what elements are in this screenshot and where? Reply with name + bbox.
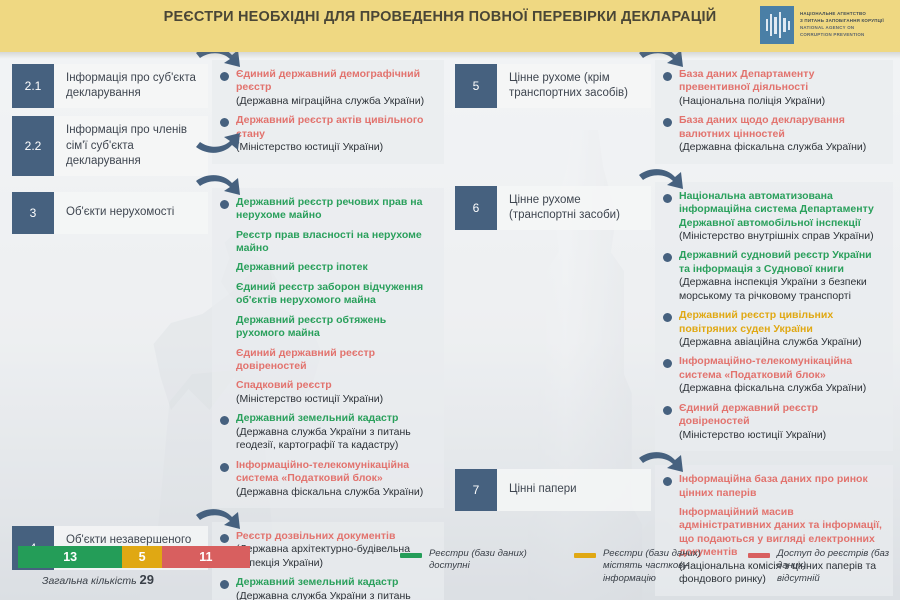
- registry-body: Державний реєстр іпотек: [236, 261, 434, 274]
- group-layout: 3Об'єкти нерухомостіДержавний реєстр реч…: [12, 188, 444, 508]
- summary-bar-segment: 13: [18, 546, 122, 568]
- registry-name: Єдиний державний реєстр довіреностей: [236, 347, 434, 374]
- bullet-icon: [220, 200, 229, 209]
- registry-authority: (Державна міграційна служба України): [236, 95, 434, 108]
- registry-name: Інформаційна база даних про ринок цінних…: [679, 473, 883, 500]
- registry-name: Єдиний державний демографічний реєстр: [236, 68, 434, 95]
- category-2-1[interactable]: 2.1Інформація про суб'єкта декларування: [12, 64, 208, 108]
- category-number: 7: [455, 469, 497, 511]
- bullet-icon: [220, 72, 229, 81]
- total-count-value: 29: [140, 572, 154, 587]
- right-column: 5Цінне рухоме (крім транспортних засобів…: [455, 60, 893, 596]
- category-number: 2.1: [12, 64, 54, 108]
- logo-line-en-2: CORRUPTION PREVENTION: [800, 32, 884, 39]
- registry-authority: (Міністерство юстиції України): [679, 429, 883, 442]
- bullet-icon: [663, 313, 672, 322]
- registry-item[interactable]: Державний реєстр актів цивільного стану(…: [220, 114, 434, 154]
- registry-body: Інформаційна база даних про ринок цінних…: [679, 473, 883, 500]
- registry-item[interactable]: Єдиний реєстр заборон відчуження об'єкті…: [220, 281, 434, 308]
- category-label: Цінне рухоме (крім транспортних засобів): [497, 64, 651, 108]
- registry-authority: (Міністерство внутрішніх справ України): [679, 230, 883, 243]
- total-count: Загальна кількість 29: [42, 572, 154, 587]
- registry-name: Реєстр прав власності на нерухоме майно: [236, 229, 434, 256]
- category-list: 2.1Інформація про суб'єкта декларування2…: [12, 64, 208, 184]
- registry-body: Єдиний реєстр заборон відчуження об'єкті…: [236, 281, 434, 308]
- registry-name: База даних щодо декларування валютних ці…: [679, 114, 883, 141]
- legend-label: Реєстри (бази даних)доступні: [429, 548, 527, 573]
- registry-item[interactable]: Інформаційна база даних про ринок цінних…: [663, 473, 883, 500]
- category-label: Цінні папери: [497, 469, 587, 511]
- registry-item[interactable]: Державний реєстр обтяжень рухомого майна: [220, 314, 434, 341]
- category-7[interactable]: 7Цінні папери: [455, 469, 651, 511]
- bullet-icon: [220, 416, 229, 425]
- legend-swatch: [400, 553, 422, 558]
- legend: Реєстри (бази даних)доступніРеєстри (баз…: [400, 548, 898, 585]
- legend-item: Реєстри (бази даних)містять часткову інф…: [574, 548, 724, 585]
- registry-body: Державний земельний кадастр(Державна слу…: [236, 412, 434, 452]
- registry-group: 2.1Інформація про суб'єкта декларування2…: [12, 60, 444, 164]
- footer-summary: 13511 Загальна кількість 29 Реєстри (баз…: [0, 538, 900, 600]
- registry-item[interactable]: Державний реєстр речових прав на нерухом…: [220, 196, 434, 223]
- category-list: 7Цінні папери: [455, 469, 651, 519]
- registry-panel: Єдиний державний демографічний реєстр(Де…: [212, 60, 444, 164]
- bullet-icon: [663, 359, 672, 368]
- registry-name: Державний реєстр речових прав на нерухом…: [236, 196, 434, 223]
- legend-item: Реєстри (бази даних)доступні: [400, 548, 550, 585]
- registry-authority: (Державна фіскальна служба України): [679, 141, 883, 154]
- registry-item[interactable]: Національна автоматизована інформаційна …: [663, 190, 883, 244]
- category-number: 2.2: [12, 116, 54, 176]
- registry-item[interactable]: Інформаційно-телекомунікаційна система «…: [663, 355, 883, 395]
- registry-item[interactable]: Реєстр прав власності на нерухоме майно: [220, 229, 434, 256]
- category-number: 3: [12, 192, 54, 234]
- total-count-label: Загальна кількість: [42, 575, 137, 587]
- registry-authority: (Національна поліція України): [679, 95, 883, 108]
- bullet-icon: [220, 463, 229, 472]
- registry-body: Державний реєстр обтяжень рухомого майна: [236, 314, 434, 341]
- nazk-logo-icon: [760, 6, 794, 44]
- summary-bar-segment: 11: [162, 546, 250, 568]
- left-column: 2.1Інформація про суб'єкта декларування2…: [12, 60, 444, 600]
- category-label: Інформація про членів сім'ї суб'єкта дек…: [54, 116, 208, 176]
- category-number: 6: [455, 186, 497, 230]
- registry-name: Державний реєстр актів цивільного стану: [236, 114, 434, 141]
- organization-logo: НАЦІОНАЛЬНЕ АГЕНТСТВО З ПИТАНЬ ЗАПОБІГАН…: [760, 6, 884, 44]
- registry-name: База даних Департаменту превентивної дія…: [679, 68, 883, 95]
- registry-authority: (Державна фіскальна служба України): [679, 382, 883, 395]
- category-2-2[interactable]: 2.2Інформація про членів сім'ї суб'єкта …: [12, 116, 208, 176]
- registry-name: Спадковий реєстр: [236, 379, 434, 392]
- category-label: Інформація про суб'єкта декларування: [54, 64, 208, 108]
- registry-body: Реєстр прав власності на нерухоме майно: [236, 229, 434, 256]
- legend-label-line1: Доступ до реєстрів (баз даних): [777, 548, 898, 573]
- registry-name: Державний реєстр цивільних повітряних су…: [679, 309, 883, 336]
- registry-name: Національна автоматизована інформаційна …: [679, 190, 883, 230]
- legend-label: Доступ до реєстрів (баз даних)відсутній: [777, 548, 898, 585]
- group-layout: 5Цінне рухоме (крім транспортних засобів…: [455, 60, 893, 164]
- category-list: 5Цінне рухоме (крім транспортних засобів…: [455, 64, 651, 116]
- legend-label: Реєстри (бази даних)містять часткову інф…: [603, 548, 724, 585]
- registry-body: Єдиний державний демографічний реєстр(Де…: [236, 68, 434, 108]
- registry-name: Державний реєстр іпотек: [236, 261, 434, 274]
- registry-item[interactable]: Єдиний державний реєстр довіреностей: [220, 347, 434, 374]
- legend-label-line2: відсутній: [777, 573, 898, 585]
- category-label: Цінне рухоме (транспортні засоби): [497, 186, 651, 230]
- registry-item[interactable]: Державний судновий реєстр України та інф…: [663, 249, 883, 303]
- bullet-icon: [220, 118, 229, 127]
- registry-body: Національна автоматизована інформаційна …: [679, 190, 883, 244]
- legend-label-line2: доступні: [429, 560, 527, 572]
- registry-group: 5Цінне рухоме (крім транспортних засобів…: [455, 60, 893, 164]
- bullet-icon: [663, 194, 672, 203]
- registry-name: Державний земельний кадастр: [236, 412, 434, 425]
- registry-name: Державний судновий реєстр України та інф…: [679, 249, 883, 276]
- header-bar: РЕЄСТРИ НЕОБХІДНІ ДЛЯ ПРОВЕДЕННЯ ПОВНОЇ …: [0, 0, 900, 52]
- legend-item: Доступ до реєстрів (баз даних)відсутній: [748, 548, 898, 585]
- legend-label-line2: містять часткову інформацію: [603, 560, 724, 585]
- registry-authority: (Державна інспекція України з безпеки мо…: [679, 276, 883, 303]
- legend-label-line1: Реєстри (бази даних): [429, 548, 527, 560]
- registry-item[interactable]: База даних Департаменту превентивної дія…: [663, 68, 883, 108]
- registry-authority: (Державна служба України з питань геодез…: [236, 426, 434, 453]
- group-layout: 6Цінне рухоме (транспортні засоби)Націон…: [455, 182, 893, 451]
- category-5[interactable]: 5Цінне рухоме (крім транспортних засобів…: [455, 64, 651, 108]
- registry-panel: База даних Департаменту превентивної дія…: [655, 60, 893, 164]
- registry-name: Інформаційно-телекомунікаційна система «…: [679, 355, 883, 382]
- registry-body: База даних щодо декларування валютних ці…: [679, 114, 883, 154]
- registry-panel: Національна автоматизована інформаційна …: [655, 182, 893, 451]
- registry-item[interactable]: Єдиний державний реєстр довіреностей(Мін…: [663, 402, 883, 442]
- category-number: 5: [455, 64, 497, 108]
- legend-swatch: [574, 553, 596, 558]
- registry-name: Інформаційно-телекомунікаційна система «…: [236, 459, 434, 486]
- bullet-icon: [663, 118, 672, 127]
- registry-body: Інформаційно-телекомунікаційна система «…: [236, 459, 434, 499]
- registry-group: 6Цінне рухоме (транспортні засоби)Націон…: [455, 182, 893, 451]
- bullet-icon: [663, 406, 672, 415]
- bullet-icon: [663, 253, 672, 262]
- registry-item[interactable]: Державний земельний кадастр(Державна слу…: [220, 412, 434, 452]
- registry-group: 3Об'єкти нерухомостіДержавний реєстр реч…: [12, 188, 444, 508]
- registry-panel: Державний реєстр речових прав на нерухом…: [212, 188, 444, 508]
- registry-body: Спадковий реєстр(Міністерство юстиції Ук…: [236, 379, 434, 406]
- registry-item[interactable]: Єдиний державний демографічний реєстр(Де…: [220, 68, 434, 108]
- logo-line-ua-1: НАЦІОНАЛЬНЕ АГЕНТСТВО: [800, 11, 884, 18]
- page-title: РЕЄСТРИ НЕОБХІДНІ ДЛЯ ПРОВЕДЕННЯ ПОВНОЇ …: [140, 8, 740, 27]
- registry-body: Інформаційно-телекомунікаційна система «…: [679, 355, 883, 395]
- registry-authority: (Державна авіаційна служба України): [679, 336, 883, 349]
- registry-item[interactable]: Державний реєстр іпотек: [220, 261, 434, 274]
- category-6[interactable]: 6Цінне рухоме (транспортні засоби): [455, 186, 651, 230]
- registry-name: Єдиний державний реєстр довіреностей: [679, 402, 883, 429]
- category-list: 6Цінне рухоме (транспортні засоби): [455, 186, 651, 238]
- registry-item[interactable]: Державний реєстр цивільних повітряних су…: [663, 309, 883, 349]
- registry-body: Державний реєстр речових прав на нерухом…: [236, 196, 434, 223]
- legend-label-line1: Реєстри (бази даних): [603, 548, 724, 560]
- registry-authority: (Міністерство юстиції України): [236, 393, 434, 406]
- logo-line-ua-2: З ПИТАНЬ ЗАПОБІГАННЯ КОРУПЦІЇ: [800, 18, 884, 25]
- registry-body: Єдиний державний реєстр довіреностей(Мін…: [679, 402, 883, 442]
- registry-item[interactable]: Інформаційно-телекомунікаційна система «…: [220, 459, 434, 499]
- registry-body: Державний реєстр цивільних повітряних су…: [679, 309, 883, 349]
- category-label: Об'єкти нерухомості: [54, 192, 184, 234]
- registry-item[interactable]: Спадковий реєстр(Міністерство юстиції Ук…: [220, 379, 434, 406]
- registry-name: Державний реєстр обтяжень рухомого майна: [236, 314, 434, 341]
- registry-body: Єдиний державний реєстр довіреностей: [236, 347, 434, 374]
- registry-body: База даних Департаменту превентивної дія…: [679, 68, 883, 108]
- logo-text-block: НАЦІОНАЛЬНЕ АГЕНТСТВО З ПИТАНЬ ЗАПОБІГАН…: [800, 11, 884, 38]
- bullet-icon: [663, 72, 672, 81]
- category-3[interactable]: 3Об'єкти нерухомості: [12, 192, 208, 234]
- registry-authority: (Міністерство юстиції України): [236, 141, 434, 154]
- category-list: 3Об'єкти нерухомості: [12, 192, 208, 242]
- registry-item[interactable]: База даних щодо декларування валютних ці…: [663, 114, 883, 154]
- logo-line-en-1: NATIONAL AGENCY ON: [800, 25, 884, 32]
- summary-bar-segment: 5: [122, 546, 161, 568]
- summary-bar: 13511: [18, 546, 250, 568]
- legend-swatch: [748, 553, 770, 558]
- registry-body: Державний судновий реєстр України та інф…: [679, 249, 883, 303]
- registry-name: Єдиний реєстр заборон відчуження об'єкті…: [236, 281, 434, 308]
- infographic-root: РЕЄСТРИ НЕОБХІДНІ ДЛЯ ПРОВЕДЕННЯ ПОВНОЇ …: [0, 0, 900, 600]
- group-layout: 2.1Інформація про суб'єкта декларування2…: [12, 60, 444, 164]
- bullet-icon: [663, 477, 672, 486]
- registry-authority: (Державна фіскальна служба України): [236, 486, 434, 499]
- registry-body: Державний реєстр актів цивільного стану(…: [236, 114, 434, 154]
- header-shadow: [0, 52, 900, 59]
